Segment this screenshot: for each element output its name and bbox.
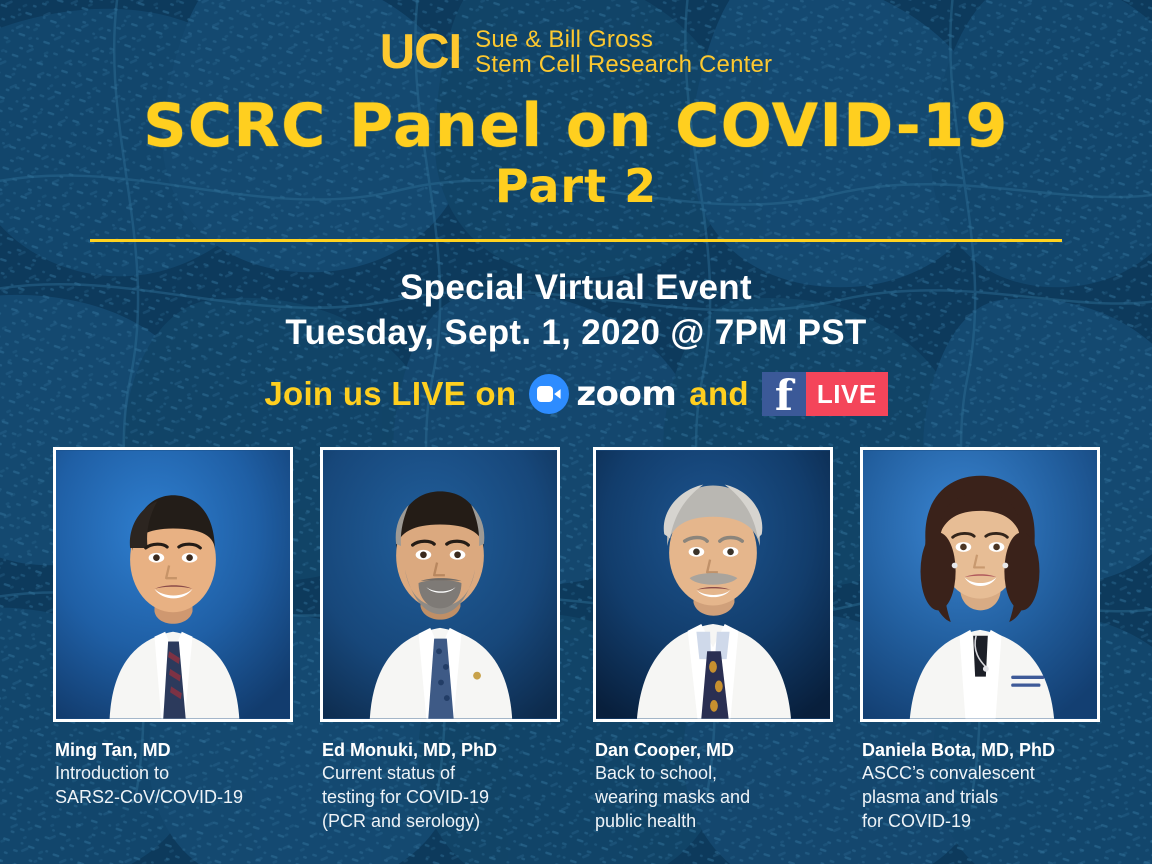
speaker-photo-daniela-bota bbox=[860, 447, 1100, 722]
join-prefix-label: Join us LIVE on bbox=[264, 375, 516, 413]
center-name-line2: Stem Cell Research Center bbox=[475, 52, 772, 77]
speaker-card-dan-cooper: Dan Cooper, MD Back to school, wearing m… bbox=[593, 447, 833, 834]
speaker-topic: ASCC’s convalescent plasma and trials fo… bbox=[862, 762, 1100, 834]
uci-wordmark: UCI bbox=[380, 28, 461, 77]
speaker-topic: Back to school, wearing masks and public… bbox=[595, 762, 833, 834]
live-badge-label: LIVE bbox=[817, 381, 877, 407]
speaker-photo-ed-monuki bbox=[320, 447, 560, 722]
speaker-caption: Dan Cooper, MD Back to school, wearing m… bbox=[593, 739, 833, 834]
event-poster: UCI Sue & Bill Gross Stem Cell Research … bbox=[0, 0, 1152, 864]
poster-title: SCRC Panel on COVID-19 bbox=[0, 96, 1152, 157]
join-live-row: Join us LIVE on zoom and f LIVE bbox=[0, 372, 1152, 416]
zoom-logo[interactable]: zoom bbox=[529, 374, 676, 414]
join-connector-label: and bbox=[689, 375, 749, 413]
speaker-card-ming-tan: Ming Tan, MD Introduction to SARS2-CoV/C… bbox=[53, 447, 293, 810]
speaker-name: Daniela Bota, MD, PhD bbox=[862, 739, 1100, 762]
zoom-wordmark: zoom bbox=[576, 374, 676, 414]
event-details: Special Virtual Event Tuesday, Sept. 1, … bbox=[0, 268, 1152, 353]
speaker-topic: Current status of testing for COVID-19 (… bbox=[322, 762, 560, 834]
uci-logo: UCI Sue & Bill Gross Stem Cell Research … bbox=[0, 27, 1152, 78]
speaker-name: Ed Monuki, MD, PhD bbox=[322, 739, 560, 762]
center-name: Sue & Bill Gross Stem Cell Research Cent… bbox=[475, 27, 772, 78]
speaker-name: Ming Tan, MD bbox=[55, 739, 293, 762]
speaker-photo-dan-cooper bbox=[593, 447, 833, 722]
center-name-line1: Sue & Bill Gross bbox=[475, 27, 772, 52]
speaker-caption: Ed Monuki, MD, PhD Current status of tes… bbox=[320, 739, 560, 834]
speaker-caption: Daniela Bota, MD, PhD ASCC’s convalescen… bbox=[860, 739, 1100, 834]
divider-rule bbox=[90, 239, 1062, 242]
facebook-icon: f bbox=[762, 372, 806, 416]
poster-subtitle-part: Part 2 bbox=[0, 163, 1152, 210]
speaker-photo-ming-tan bbox=[53, 447, 293, 722]
zoom-camera-icon bbox=[529, 374, 569, 414]
speaker-caption: Ming Tan, MD Introduction to SARS2-CoV/C… bbox=[53, 739, 293, 810]
speaker-name: Dan Cooper, MD bbox=[595, 739, 833, 762]
speaker-card-daniela-bota: Daniela Bota, MD, PhD ASCC’s convalescen… bbox=[860, 447, 1100, 834]
live-badge: LIVE bbox=[806, 372, 888, 416]
speaker-topic: Introduction to SARS2-CoV/COVID-19 bbox=[55, 762, 293, 810]
speaker-card-ed-monuki: Ed Monuki, MD, PhD Current status of tes… bbox=[320, 447, 560, 834]
facebook-f-glyph: f bbox=[775, 377, 793, 416]
facebook-live-logo[interactable]: f LIVE bbox=[762, 372, 888, 416]
event-type: Special Virtual Event bbox=[0, 268, 1152, 309]
event-datetime: Tuesday, Sept. 1, 2020 @ 7PM PST bbox=[0, 313, 1152, 354]
